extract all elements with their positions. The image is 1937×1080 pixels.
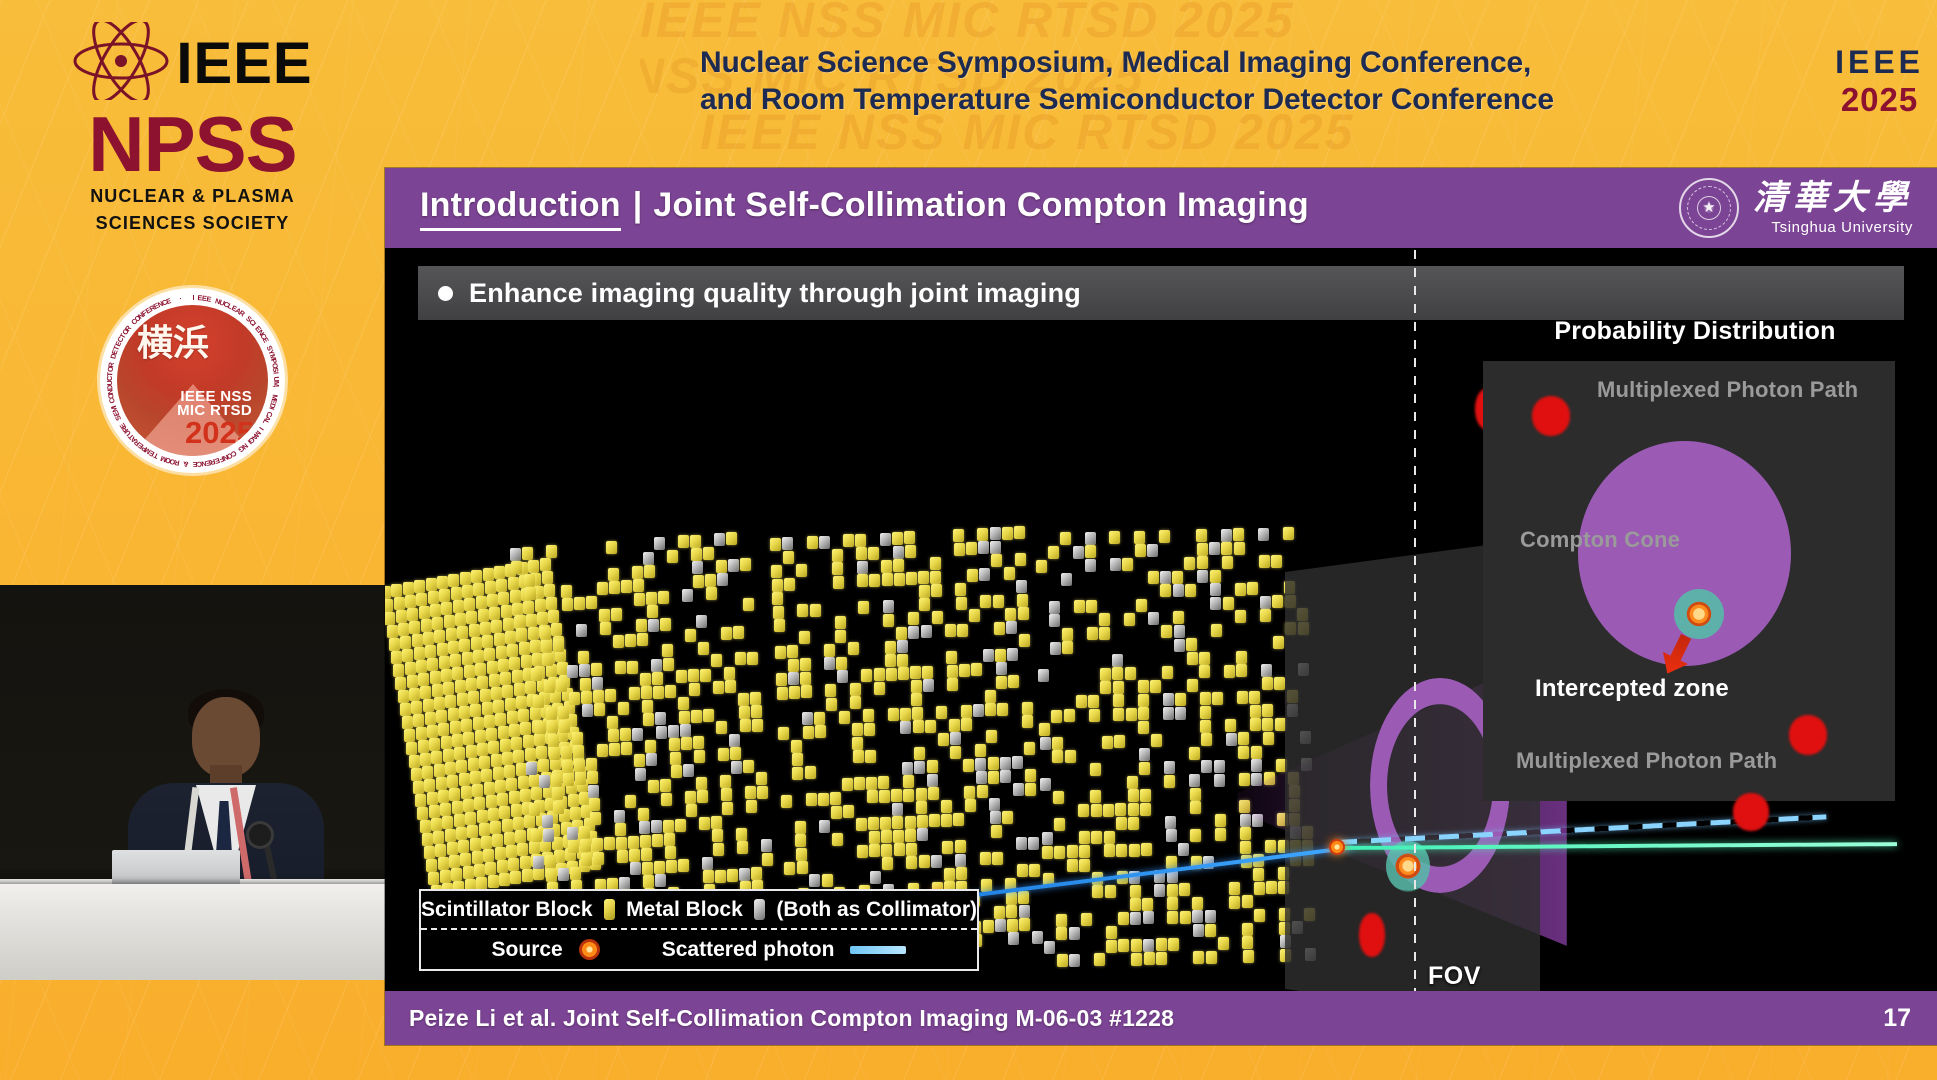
metal-block: [819, 536, 830, 549]
scintillator-block: [1004, 567, 1015, 580]
scintillator-block: [777, 687, 788, 700]
scintillator-block: [493, 767, 504, 780]
scintillator-block: [608, 568, 619, 581]
metal-block: [729, 734, 740, 747]
scintillator-block: [882, 573, 893, 586]
scintillator-block: [866, 777, 877, 790]
scintillator-block: [448, 708, 459, 721]
probability-source-marker: [1674, 589, 1724, 639]
scintillator-block: [420, 820, 431, 833]
scintillator-block: [440, 870, 451, 883]
scintillator-block: [484, 715, 495, 728]
metal-block: [1073, 546, 1084, 559]
metal-block: [914, 761, 925, 774]
scintillator-block: [721, 788, 732, 801]
scintillator-block: [1014, 526, 1025, 539]
tsinghua-seal-icon: ★: [1679, 178, 1739, 238]
scintillator-block: [797, 604, 808, 617]
scintillator-block: [663, 658, 674, 671]
scintillator-block: [1128, 817, 1139, 830]
scintillator-block: [1150, 680, 1161, 693]
scintillator-block: [451, 587, 462, 600]
scintillator-block: [426, 859, 437, 872]
scintillator-block: [403, 582, 414, 595]
scintillator-block: [434, 630, 445, 643]
tsinghua-university-logo: ★ 清華大學 Tsinghua University: [1679, 177, 1913, 239]
metal-block: [1178, 843, 1189, 856]
scintillator-block: [597, 582, 608, 595]
scintillator-block: [618, 702, 629, 715]
scintillator-block: [605, 689, 616, 702]
conference-brand: IEEE 2025: [1835, 44, 1924, 121]
scintillator-block: [391, 584, 402, 597]
metal-block: [1160, 571, 1171, 584]
slide-title-text: Joint Self-Collimation Compton Imaging: [653, 186, 1308, 225]
scintillator-block: [391, 651, 402, 664]
slide-title: Introduction|Joint Self-Collimation Comp…: [420, 186, 1309, 231]
scintillator-block: [1173, 611, 1184, 624]
scintillator-block: [1251, 746, 1262, 759]
scintillator-block: [540, 627, 551, 640]
scintillator-block: [1115, 803, 1126, 816]
scintillator-block: [745, 786, 756, 799]
scintillator-block: [470, 704, 481, 717]
seal-ring-char: &: [182, 459, 188, 468]
scintillator-block: [814, 712, 825, 725]
scintillator-block: [431, 818, 442, 831]
scintillator-block: [953, 813, 964, 826]
scintillator-block: [931, 584, 942, 597]
scintillator-block: [1002, 811, 1013, 824]
scintillator-block: [448, 574, 459, 587]
scintillator-block: [1091, 831, 1102, 844]
metal-block: [809, 874, 820, 887]
scintillator-block: [547, 720, 558, 733]
scintillator-block: [652, 834, 663, 847]
scintillator-block: [788, 659, 799, 672]
probability-hotspot: [1532, 396, 1570, 436]
metal-block: [1189, 774, 1200, 787]
scintillator-block: [471, 570, 482, 583]
scintillator-block: [443, 682, 454, 695]
scintillator-block: [1042, 846, 1053, 859]
scintillator-block: [431, 751, 442, 764]
scintillator-block: [491, 687, 502, 700]
scintillator-block: [1051, 710, 1062, 723]
slide-page-number: 17: [1883, 1004, 1911, 1033]
scintillator-block: [1179, 883, 1190, 896]
scintillator-block: [1139, 762, 1150, 775]
metal-block: [1130, 912, 1141, 925]
scintillator-block: [481, 769, 492, 782]
scintillator-block: [469, 624, 480, 637]
scintillator-block: [1236, 651, 1247, 664]
scintillator-block: [473, 583, 484, 596]
scintillator-block: [1235, 610, 1246, 623]
ieee-wordmark-row: IEEE: [0, 22, 385, 105]
scintillator-block: [496, 646, 507, 659]
scintillator-block: [950, 746, 961, 759]
metal-block: [592, 677, 603, 690]
scintillator-block: [944, 868, 955, 881]
metal-block: [1164, 761, 1175, 774]
metal-block: [1163, 707, 1174, 720]
scintillator-block: [483, 568, 494, 581]
metal-block: [931, 855, 942, 868]
scintillator-block: [458, 840, 469, 853]
scintillator-block: [629, 849, 640, 862]
scintillator-block: [660, 779, 671, 792]
legend-metal-label: Metal Block: [626, 898, 743, 922]
scintillator-block: [980, 852, 991, 865]
scintillator-block: [1210, 570, 1221, 583]
scintillator-block: [570, 867, 581, 880]
scintillator-block: [561, 585, 572, 598]
scintillator-block: [880, 817, 891, 830]
scintillator-block: [750, 692, 761, 705]
scintillator-block: [460, 572, 471, 585]
metal-block: [639, 821, 650, 834]
scintillator-block: [747, 652, 758, 665]
scintillator-block: [857, 845, 868, 858]
scintillator-block: [643, 875, 654, 888]
scintillator-block: [928, 787, 939, 800]
scintillator-block: [1087, 627, 1098, 640]
scintillator-block: [474, 797, 485, 810]
metal-block: [702, 857, 713, 870]
scintillator-block: [991, 554, 1002, 567]
scintillator-block: [1024, 742, 1035, 755]
metal-block: [893, 546, 904, 559]
scintillator-block: [482, 635, 493, 648]
scintillator-block: [553, 801, 564, 814]
scintillator-block: [488, 741, 499, 754]
scintillator-block: [479, 823, 490, 836]
scintillator-block: [574, 597, 585, 610]
scintillator-block: [426, 578, 437, 591]
scintillator-block: [632, 566, 643, 579]
scintillator-block: [855, 534, 866, 547]
conference-title-line-2: and Room Temperature Semiconductor Detec…: [700, 82, 1813, 119]
scintillator-block: [963, 759, 974, 772]
scintillator-block: [541, 640, 552, 653]
scintillator-block: [423, 699, 434, 712]
scintillator-block: [1185, 584, 1196, 597]
scintillator-block: [1229, 896, 1240, 909]
scintillator-block: [495, 780, 506, 793]
npss-subtitle-line-2: SCIENCES SOCIETY: [0, 212, 385, 235]
metal-block: [651, 820, 662, 833]
scintillator-block: [1254, 909, 1265, 922]
metal-block: [1175, 707, 1186, 720]
scintillator-block: [961, 705, 972, 718]
scintillator-block: [835, 616, 846, 629]
scintillator-block: [434, 697, 445, 710]
scintillator-block: [961, 718, 972, 731]
metal-block: [533, 856, 544, 869]
scintillator-block: [1116, 844, 1127, 857]
scintillator-block: [1190, 801, 1201, 814]
scintillator-block: [535, 721, 546, 734]
metal-block: [526, 762, 537, 775]
scintillator-block: [629, 687, 640, 700]
scintillator-block: [743, 760, 754, 773]
scintillator-block: [985, 690, 996, 703]
metal-block: [680, 724, 691, 737]
scintillator-block: [1263, 732, 1274, 745]
metal-block: [1013, 783, 1024, 796]
scintillator-block: [965, 799, 976, 812]
metal-block: [1148, 612, 1159, 625]
scintillator-block: [832, 833, 843, 846]
scintillator-block: [916, 788, 927, 801]
scintillator-block: [433, 831, 444, 844]
scintillator-block: [1057, 954, 1068, 967]
scintillator-block: [1240, 841, 1251, 854]
metal-block: [619, 877, 630, 890]
npss-wordmark: NPSS: [0, 107, 385, 181]
scintillator-block: [740, 719, 751, 732]
scintillator-block: [1215, 828, 1226, 841]
scintillator-block: [703, 709, 714, 722]
scintillator-block: [404, 729, 415, 742]
metal-block: [902, 762, 913, 775]
scintillator-block: [1079, 831, 1090, 844]
scintillator-block: [1074, 600, 1085, 613]
scintillator-block: [1136, 599, 1147, 612]
scintillator-block: [824, 644, 835, 657]
atom-icon: [72, 22, 170, 105]
scintillator-block: [1259, 555, 1270, 568]
scintillator-block: [930, 571, 941, 584]
scintillator-block: [988, 771, 999, 784]
metal-block: [1008, 932, 1019, 945]
presentation-slide: Introduction|Joint Self-Collimation Comp…: [385, 168, 1937, 1045]
scintillator-block: [1238, 746, 1249, 759]
scintillator-block: [495, 713, 506, 726]
scintillator-block: [581, 691, 592, 704]
scintillator-block: [995, 649, 1006, 662]
scintillator-block: [644, 565, 655, 578]
scintillator-block: [1266, 881, 1277, 894]
scintillator-block: [466, 678, 477, 691]
fov-hotspot: [1359, 913, 1385, 957]
scintillator-block: [494, 633, 505, 646]
metal-block: [976, 771, 987, 784]
scintillator-block: [832, 549, 843, 562]
scintillator-block: [681, 737, 692, 750]
seal-ring-char: I: [193, 293, 195, 302]
scintillator-block: [746, 800, 757, 813]
scintillator-block: [1250, 718, 1261, 731]
metal-block: [1012, 756, 1023, 769]
scintillator-block: [452, 801, 463, 814]
scintillator-block: [1090, 763, 1101, 776]
scintillator-block: [925, 720, 936, 733]
scintillator-block: [1192, 897, 1203, 910]
scintillator-block: [463, 866, 474, 879]
scintillator-block: [1180, 911, 1191, 924]
slide-body: Enhance imaging quality through joint im…: [385, 248, 1937, 991]
metal-block: [870, 871, 881, 884]
scintillator-block: [898, 667, 909, 680]
scintillator-block: [637, 633, 648, 646]
scintillator-block: [919, 585, 930, 598]
scintillator-block: [1079, 859, 1090, 872]
scintillator-block: [393, 664, 404, 677]
scintillator-block: [783, 551, 794, 564]
scintillator-block: [955, 583, 966, 596]
scintillator-block: [441, 736, 452, 749]
scintillator-block: [389, 638, 400, 651]
scintillator-block: [1113, 681, 1124, 694]
scintillator-block: [1249, 691, 1260, 704]
scintillator-block: [691, 710, 702, 723]
scintillator-block: [489, 674, 500, 687]
scintillator-block: [685, 629, 696, 642]
scintillator-block: [1019, 634, 1030, 647]
scintillator-block: [617, 850, 628, 863]
scintillator-block: [633, 579, 644, 592]
scintillator-block: [997, 703, 1008, 716]
scintillator-block: [757, 786, 768, 799]
scintillator-block: [751, 705, 762, 718]
scintillator-block: [398, 623, 409, 636]
scintillator-block: [678, 697, 689, 710]
scintillator-block: [495, 847, 506, 860]
scintillator-block: [562, 760, 573, 773]
seal-ring-char: I: [271, 371, 280, 374]
metal-block: [1163, 693, 1174, 706]
metal-block: [1007, 648, 1018, 661]
scintillator-block: [850, 696, 861, 709]
scintillator-block: [967, 569, 978, 582]
scintillator-block: [665, 846, 676, 859]
scintillator-block: [1138, 707, 1149, 720]
scintillator-block: [473, 650, 484, 663]
legend-row-blocks: Scintillator Block Metal Block (Both as …: [421, 891, 977, 930]
metal-block: [582, 704, 593, 717]
scintillator-block: [1271, 555, 1282, 568]
scintillator-block: [1200, 692, 1211, 705]
scintillator-block: [1018, 891, 1029, 904]
metal-block: [539, 775, 550, 788]
scintillator-block: [772, 592, 783, 605]
scintillator-block: [1022, 715, 1033, 728]
metal-block: [655, 874, 666, 887]
scintillator-block: [865, 750, 876, 763]
metal-block: [921, 625, 932, 638]
scintillator-block: [800, 658, 811, 671]
scintillator-block: [1199, 652, 1210, 665]
metal-block: [1112, 654, 1123, 667]
scintillator-block: [1218, 937, 1229, 950]
scintillator-block: [954, 543, 965, 556]
label-multiplexed-photon-path-top: Multiplexed Photon Path: [1597, 377, 1858, 403]
scintillator-block: [716, 721, 727, 734]
metal-block: [576, 624, 587, 637]
scintillator-block: [1283, 527, 1294, 540]
scintillator-block: [464, 598, 475, 611]
scintillator-block: [906, 856, 917, 869]
scintillator-block: [852, 737, 863, 750]
scintillator-block: [1187, 679, 1198, 692]
scintillator-block: [436, 710, 447, 723]
metal-block: [880, 533, 891, 546]
scintillator-block: [574, 759, 585, 772]
scintillator-block: [795, 821, 806, 834]
scintillator-block: [919, 598, 930, 611]
scintillator-block: [429, 805, 440, 818]
metal-block: [1166, 829, 1177, 842]
scintillator-block: [591, 663, 602, 676]
scintillator-block: [1078, 804, 1089, 817]
scintillator-block: [477, 676, 488, 689]
scintillator-block: [856, 818, 867, 831]
metal-block: [1038, 669, 1049, 682]
scintillator-block: [476, 596, 487, 609]
scintillator-block: [660, 618, 671, 631]
scintillator-block: [652, 672, 663, 685]
scintillator-block: [529, 803, 540, 816]
metal-block: [824, 657, 835, 670]
scintillator-block: [721, 627, 732, 640]
scintillator-block: [420, 753, 431, 766]
scintillator-block: [594, 703, 605, 716]
scintillator-block: [1118, 912, 1129, 925]
scintillator-block: [670, 752, 681, 765]
scintillator-block: [1229, 882, 1240, 895]
scintillator-block: [444, 615, 455, 628]
metal-block: [1214, 760, 1225, 773]
scintillator-block: [810, 604, 821, 617]
scintillator-block: [437, 643, 448, 656]
scintillator-block: [1236, 664, 1247, 677]
scintillator-block: [842, 778, 853, 791]
scintillator-block: [874, 668, 885, 681]
scintillator-block: [957, 624, 968, 637]
scintillator-block: [888, 708, 899, 721]
metal-block: [654, 537, 665, 550]
metal-block: [788, 672, 799, 685]
scintillator-block: [1242, 895, 1253, 908]
scintillator-block: [483, 849, 494, 862]
scintillator-block: [678, 535, 689, 548]
scintillator-block: [971, 663, 982, 676]
scintillator-block: [1100, 681, 1111, 694]
scintillator-block: [452, 667, 463, 680]
metal-block: [1019, 905, 1030, 918]
scintillator-block: [494, 566, 505, 579]
scintillator-block: [789, 686, 800, 699]
metal-block: [1209, 542, 1220, 555]
scintillator-block: [1222, 556, 1233, 569]
presenter-video-tile: [0, 585, 385, 980]
metal-block: [1251, 759, 1262, 772]
scintillator-block: [417, 807, 428, 820]
scintillator-block: [1138, 680, 1149, 693]
scintillator-block: [525, 587, 536, 600]
scintillator-block: [498, 592, 509, 605]
scintillator-block: [977, 785, 988, 798]
metal-block: [1110, 558, 1121, 571]
scintillator-block: [993, 595, 1004, 608]
seal-year: 2025: [185, 417, 254, 448]
scintillator-block: [443, 749, 454, 762]
metal-block: [1173, 584, 1184, 597]
scintillator-block: [472, 784, 483, 797]
scintillator-block: [949, 719, 960, 732]
